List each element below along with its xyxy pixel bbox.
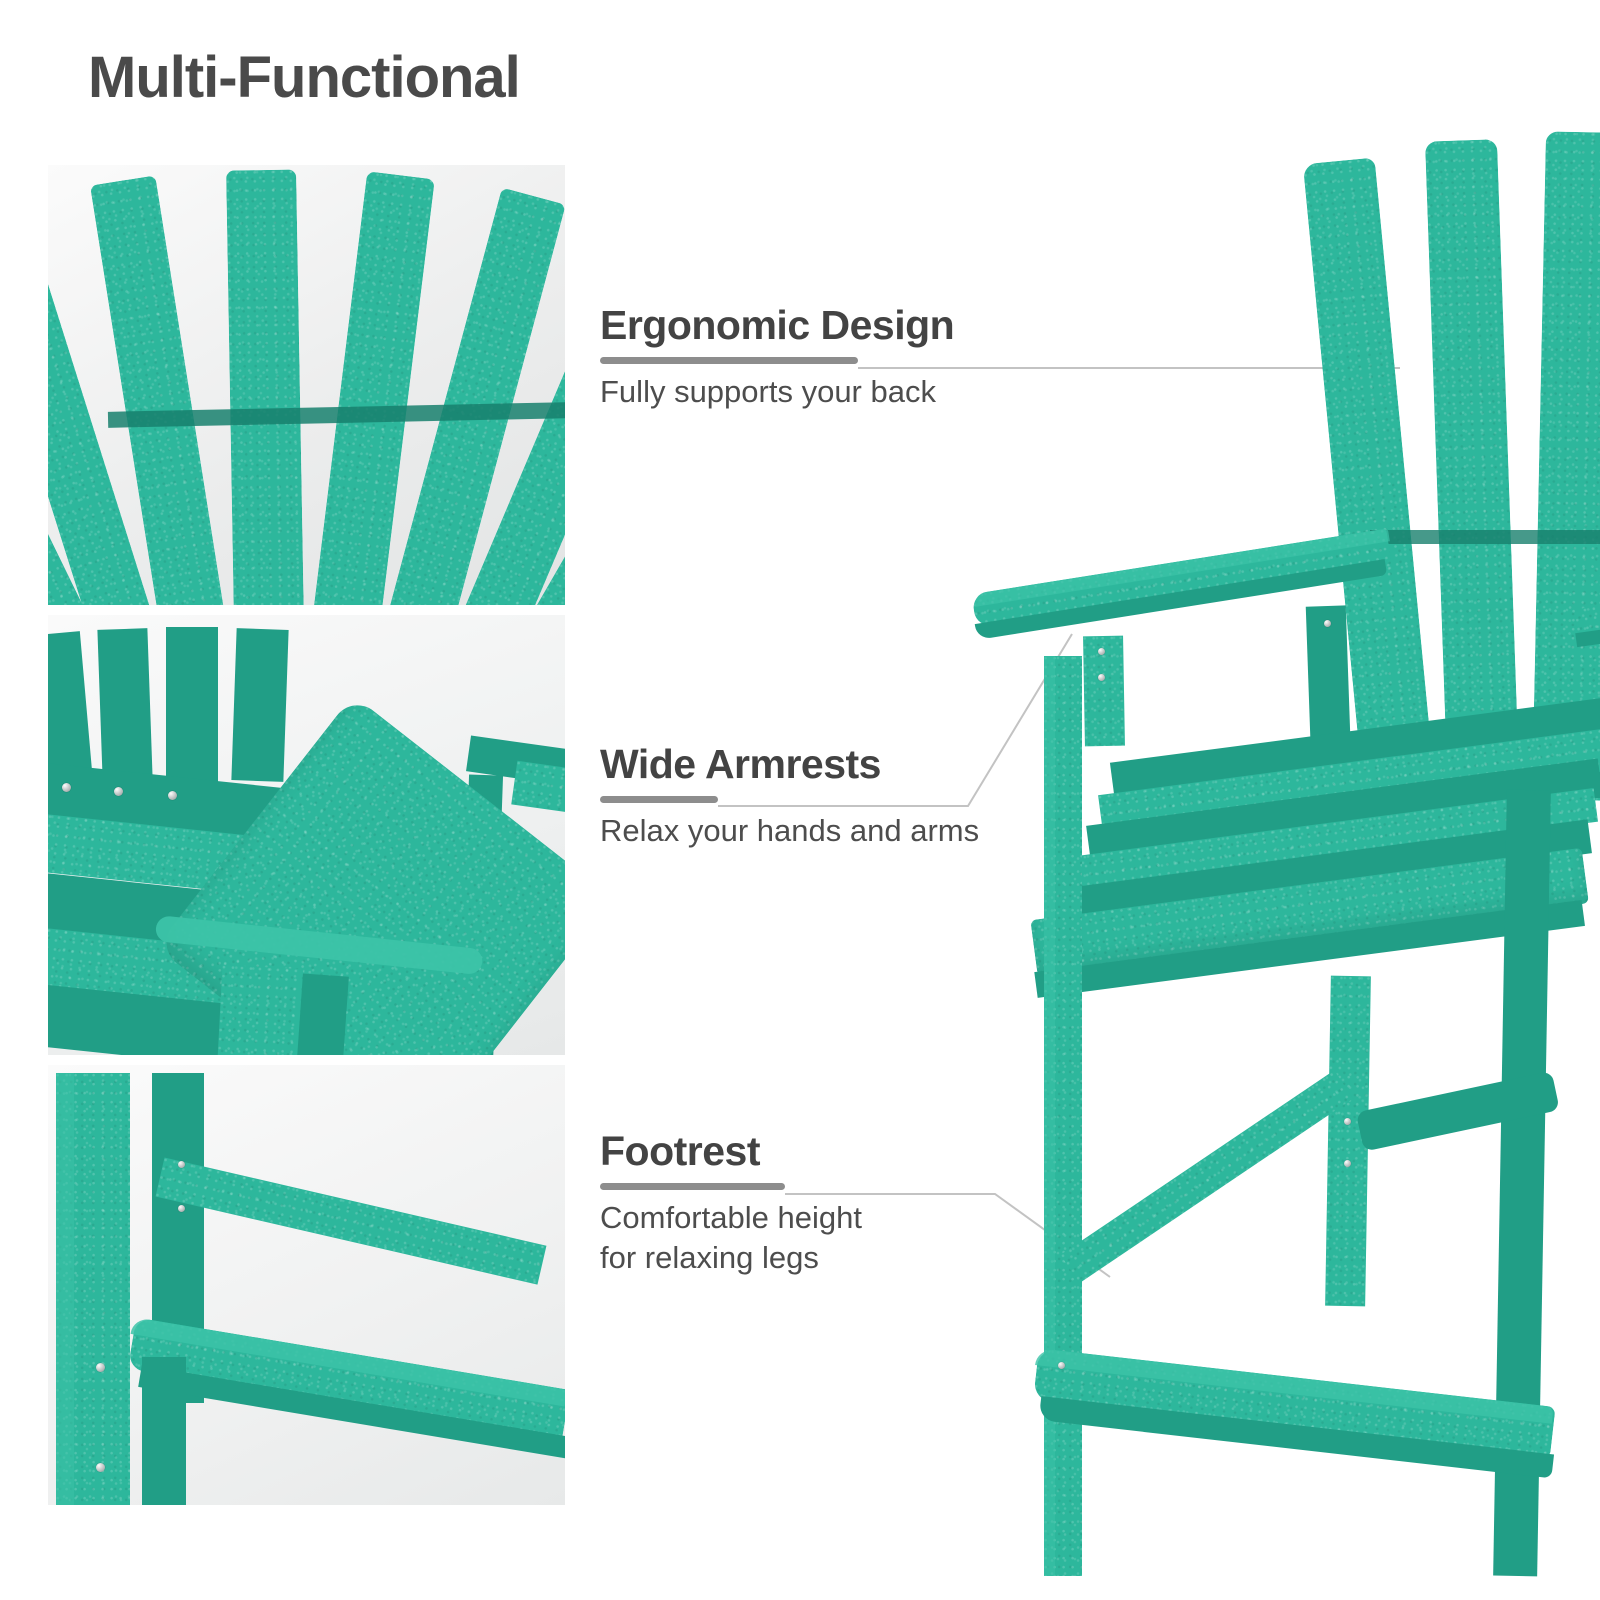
feature-subtext: Comfortable height for relaxing legs: [600, 1198, 862, 1277]
feature-photo-armrest: [48, 615, 565, 1055]
feature-divider: [600, 354, 954, 366]
feature-heading: Footrest: [600, 1129, 862, 1173]
feature-block-footrest: Footrest Comfortable height for relaxing…: [600, 1129, 862, 1278]
main-product-image: [940, 100, 1600, 1580]
divider-bar: [600, 357, 858, 364]
infographic-root: Multi-Functional: [0, 0, 1600, 1600]
feature-photo-backrest: [48, 165, 565, 605]
feature-block-wide-armrests: Wide Armrests Relax your hands and arms: [600, 742, 979, 851]
divider-bar: [600, 1183, 785, 1190]
feature-divider: [600, 793, 979, 805]
feature-photo-footrest: [48, 1065, 565, 1505]
feature-block-ergonomic-design: Ergonomic Design Fully supports your bac…: [600, 303, 954, 412]
feature-heading: Wide Armrests: [600, 742, 979, 786]
feature-divider: [600, 1180, 862, 1192]
feature-subtext: Fully supports your back: [600, 372, 954, 412]
feature-heading: Ergonomic Design: [600, 303, 954, 347]
page-title: Multi-Functional: [88, 44, 520, 111]
feature-subtext: Relax your hands and arms: [600, 811, 979, 851]
divider-bar: [600, 796, 718, 803]
